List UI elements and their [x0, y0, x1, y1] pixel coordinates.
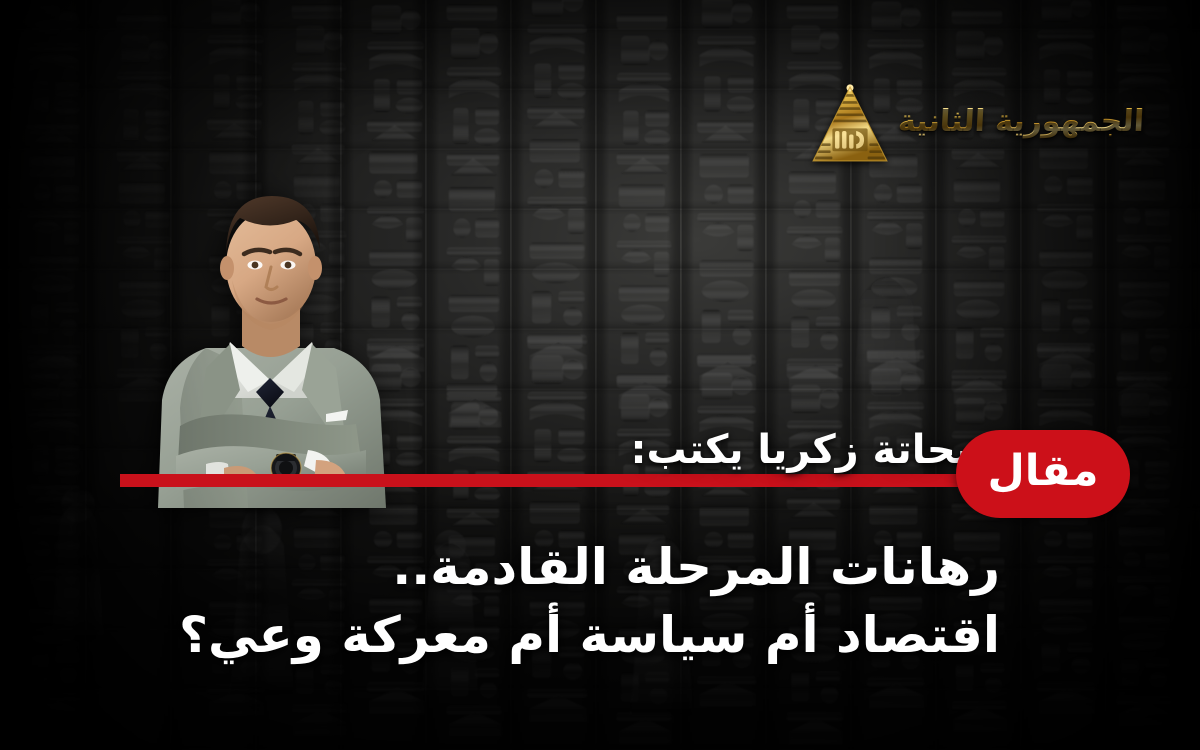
author-byline: شحاتة زكريا يكتب:: [631, 428, 995, 472]
brand-logo-wordmark: الجمهورية الثانية: [897, 107, 1145, 141]
pyramid-emblem-icon: [806, 80, 894, 168]
article-type-badge-label: مقال: [987, 450, 1098, 499]
headline: رهانات المرحلة القادمة.. اقتصاد أم سياسة…: [179, 533, 1000, 669]
brand-logo[interactable]: الجمهورية الثانية: [806, 78, 1116, 170]
headline-line-2: اقتصاد أم سياسة أم معركة وعي؟: [179, 601, 1000, 669]
author-portrait: [120, 168, 420, 508]
article-promo-card: الجمهورية الثانية: [0, 0, 1200, 750]
red-rule-bar: [120, 474, 1020, 487]
article-type-badge[interactable]: مقال: [956, 430, 1130, 518]
headline-line-1: رهانات المرحلة القادمة..: [179, 533, 1000, 601]
